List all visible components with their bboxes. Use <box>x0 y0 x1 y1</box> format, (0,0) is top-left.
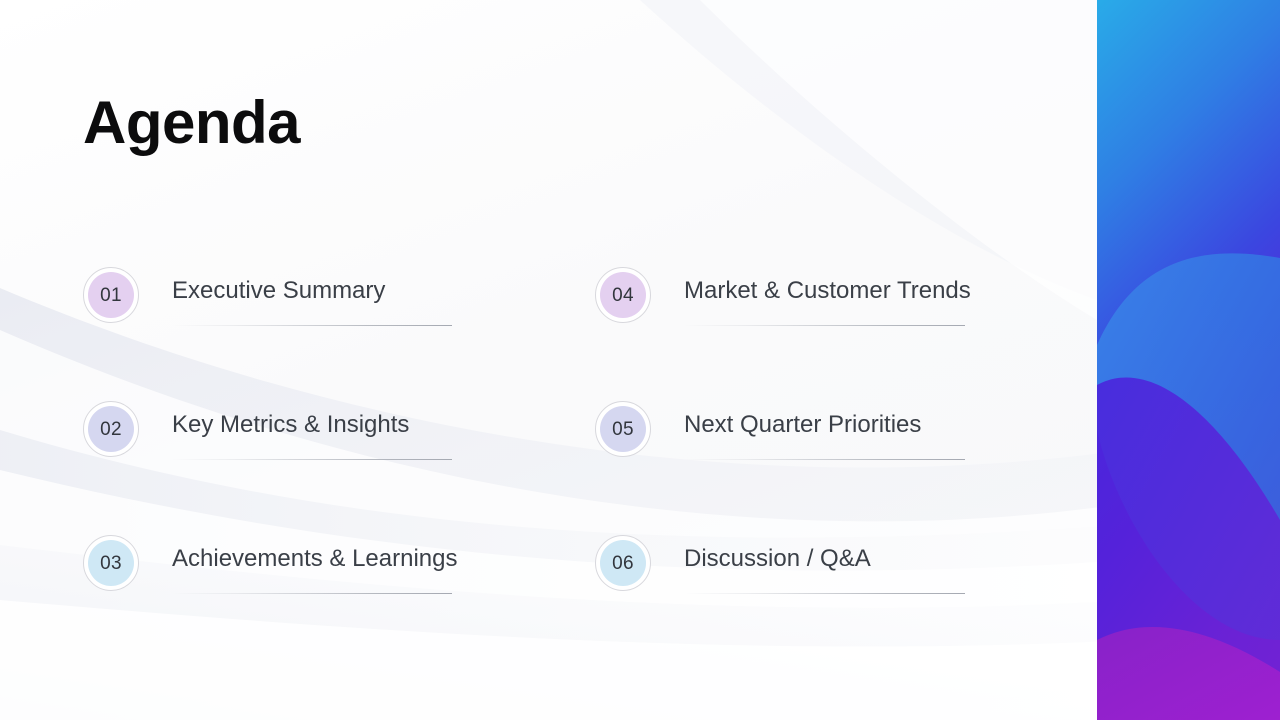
agenda-item-label: Market & Customer Trends <box>684 267 1023 304</box>
agenda-item-01[interactable]: 01 Executive Summary <box>83 267 595 401</box>
agenda-item-label: Next Quarter Priorities <box>684 401 1023 438</box>
agenda-item-body: Achievements & Learnings <box>172 535 595 594</box>
agenda-number-badge: 05 <box>595 401 651 457</box>
agenda-item-number: 06 <box>612 554 634 573</box>
agenda-item-label: Achievements & Learnings <box>172 535 595 572</box>
page-title: Agenda <box>83 93 300 153</box>
agenda-item-label: Executive Summary <box>172 267 595 304</box>
agenda-number-badge: 01 <box>83 267 139 323</box>
agenda-item-label: Discussion / Q&A <box>684 535 1023 572</box>
agenda-item-number: 01 <box>100 286 122 305</box>
agenda-slide: Agenda 01 Executive Summary 04 Market & … <box>0 0 1280 720</box>
agenda-item-02[interactable]: 02 Key Metrics & Insights <box>83 401 595 535</box>
agenda-number-badge: 02 <box>83 401 139 457</box>
agenda-item-05[interactable]: 05 Next Quarter Priorities <box>595 401 1023 535</box>
agenda-item-06[interactable]: 06 Discussion / Q&A <box>595 535 1023 669</box>
agenda-item-04[interactable]: 04 Market & Customer Trends <box>595 267 1023 401</box>
agenda-list: 01 Executive Summary 04 Market & Custome… <box>83 267 1023 669</box>
agenda-item-label: Key Metrics & Insights <box>172 401 595 438</box>
agenda-item-body: Key Metrics & Insights <box>172 401 595 460</box>
agenda-item-number: 03 <box>100 554 122 573</box>
agenda-item-underline <box>172 325 452 326</box>
agenda-item-body: Executive Summary <box>172 267 595 326</box>
agenda-item-body: Discussion / Q&A <box>684 535 1023 594</box>
agenda-number-badge: 06 <box>595 535 651 591</box>
agenda-item-body: Market & Customer Trends <box>684 267 1023 326</box>
agenda-item-underline <box>172 593 452 594</box>
agenda-number-badge: 04 <box>595 267 651 323</box>
agenda-number-badge: 03 <box>83 535 139 591</box>
agenda-item-underline <box>684 593 965 594</box>
gradient-decoration-panel <box>1097 0 1280 720</box>
agenda-item-number: 02 <box>100 420 122 439</box>
agenda-item-underline <box>684 325 965 326</box>
agenda-item-underline <box>684 459 965 460</box>
agenda-item-03[interactable]: 03 Achievements & Learnings <box>83 535 595 669</box>
agenda-item-number: 05 <box>612 420 634 439</box>
agenda-item-number: 04 <box>612 286 634 305</box>
agenda-item-body: Next Quarter Priorities <box>684 401 1023 460</box>
agenda-item-underline <box>172 459 452 460</box>
